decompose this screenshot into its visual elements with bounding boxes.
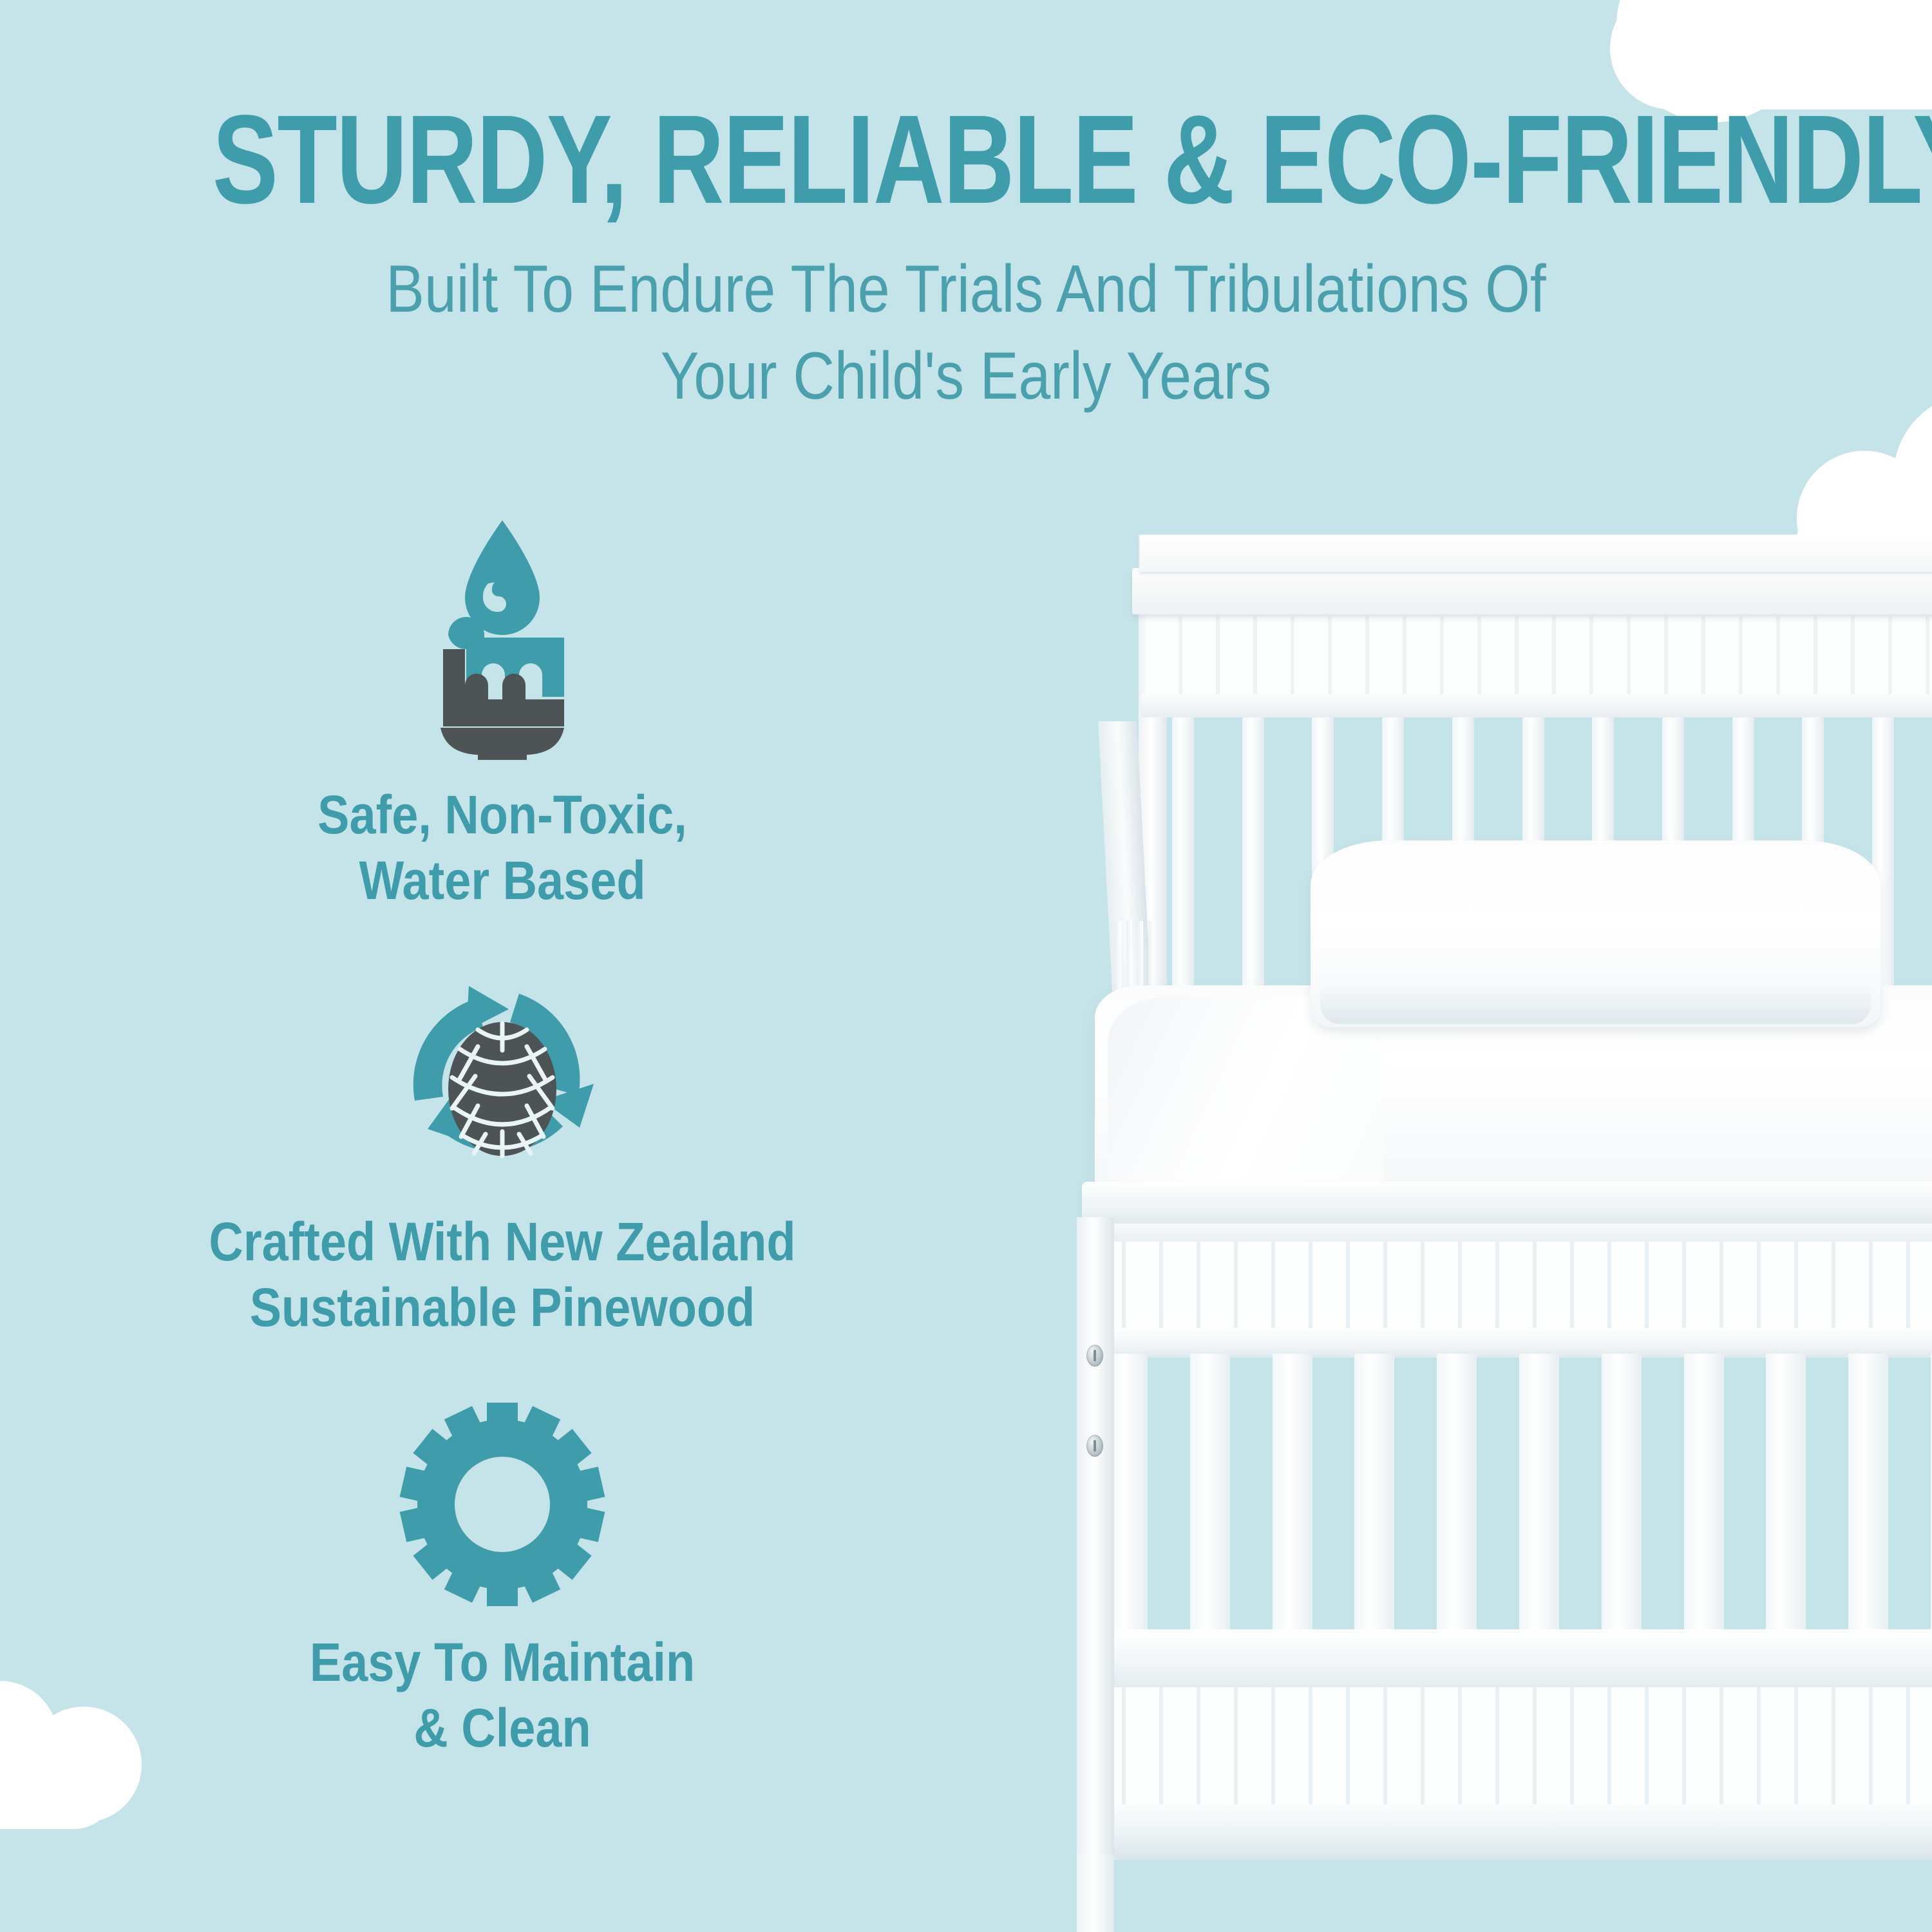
footboard-slat bbox=[1273, 1354, 1312, 1637]
footboard-corner-post bbox=[1077, 1217, 1114, 1932]
corner-post-screw-upper bbox=[1086, 1345, 1103, 1367]
feature-item-sustainable-pinewood: Crafted With New Zealand Sustainable Pin… bbox=[71, 974, 934, 1341]
bed-leg bbox=[1077, 1855, 1114, 1932]
footboard-beadboard-panel-upper bbox=[1088, 1242, 1932, 1333]
recycle-pinecone-icon bbox=[393, 974, 612, 1187]
gear-icon bbox=[399, 1401, 605, 1607]
footboard-slat bbox=[1602, 1354, 1642, 1637]
footboard-slat bbox=[1437, 1354, 1477, 1637]
white-toddler-bed bbox=[979, 535, 1932, 1758]
paint-brush-water-drop-icon bbox=[406, 509, 599, 760]
headboard-panel-base-rail bbox=[1141, 694, 1932, 717]
feature-label-easy-maintain: Easy To Maintain & Clean bbox=[122, 1629, 882, 1761]
pillow-shadow bbox=[1320, 985, 1871, 1024]
feature-label-sustainable-pinewood: Crafted With New Zealand Sustainable Pin… bbox=[122, 1209, 882, 1341]
headboard-beadboard-panel bbox=[1145, 614, 1932, 697]
feature-label-line-1: Easy To Maintain bbox=[122, 1629, 882, 1695]
subtitle-line-2: Your Child's Early Years bbox=[301, 333, 1631, 420]
footboard-slats bbox=[1108, 1354, 1932, 1637]
feature-item-easy-maintain: Easy To Maintain & Clean bbox=[71, 1401, 934, 1761]
page-subtitle: Built To Endure The Trials And Tribulati… bbox=[301, 246, 1631, 420]
feature-label-safe-non-toxic: Safe, Non-Toxic, Water Based bbox=[122, 782, 882, 914]
feature-label-line-2: & Clean bbox=[122, 1695, 882, 1761]
footboard-slat bbox=[1684, 1354, 1724, 1637]
footboard-slat bbox=[1354, 1354, 1394, 1637]
subtitle-line-1: Built To Endure The Trials And Tribulati… bbox=[301, 246, 1631, 333]
header-block: STURDY, RELIABLE & ECO-FRIENDLY Built To… bbox=[0, 97, 1932, 420]
page-title: STURDY, RELIABLE & ECO-FRIENDLY bbox=[213, 97, 1719, 223]
footboard-bottom-rail bbox=[1077, 1804, 1932, 1860]
feature-item-safe-non-toxic: Safe, Non-Toxic, Water Based bbox=[71, 509, 934, 914]
bed-front-rail bbox=[1082, 1182, 1932, 1227]
headboard-upper-rail bbox=[1132, 568, 1932, 614]
feature-label-line-1: Crafted With New Zealand bbox=[122, 1209, 882, 1274]
corner-post-screw-lower bbox=[1086, 1435, 1103, 1457]
footboard-slat bbox=[1190, 1354, 1230, 1637]
infographic-canvas: STURDY, RELIABLE & ECO-FRIENDLY Built To… bbox=[0, 0, 1932, 1932]
footboard-beadboard-panel-lower bbox=[1088, 1687, 1932, 1810]
feature-label-line-2: Water Based bbox=[122, 848, 882, 913]
feature-list: Safe, Non-Toxic, Water Based bbox=[71, 509, 934, 1822]
feature-label-line-2: Sustainable Pinewood bbox=[122, 1274, 882, 1340]
feature-label-line-1: Safe, Non-Toxic, bbox=[122, 782, 882, 848]
footboard-lower-rail bbox=[1077, 1629, 1932, 1691]
headboard-top-rail bbox=[1140, 535, 1932, 572]
footboard-slat bbox=[1766, 1354, 1806, 1637]
footboard-slat bbox=[1848, 1354, 1888, 1637]
footboard-slat bbox=[1519, 1354, 1559, 1637]
